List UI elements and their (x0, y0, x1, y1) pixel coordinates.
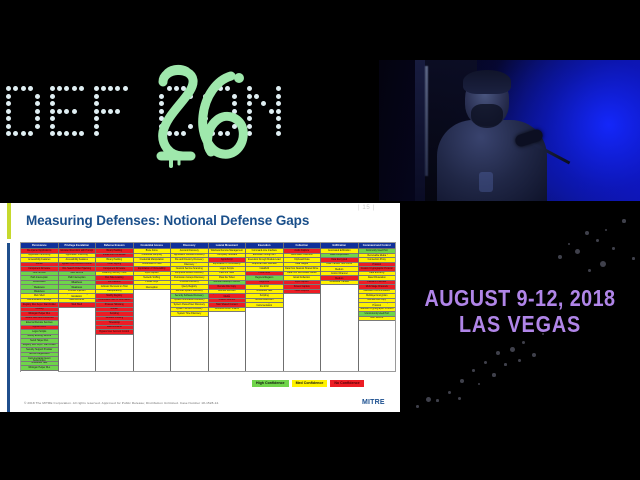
confidence-legend: High ConfidenceMed ConfidenceNo Confiden… (252, 380, 364, 387)
slide-copyright-footer: © 2018 The MITRE Corporation. All rights… (24, 401, 219, 405)
slide-accent-bar (7, 203, 11, 239)
background-speck (510, 347, 515, 352)
matrix-column: PersistenceRe-opened ApplicationsApplica… (21, 243, 59, 371)
background-speck (504, 363, 507, 366)
slide-title: Measuring Defenses: Notional Defense Gap… (26, 213, 346, 231)
speaker-hair (463, 70, 511, 94)
speaker-beard (471, 104, 503, 128)
event-info-text: AUGUST 9-12, 2018 LAS VEGAS (400, 286, 640, 338)
bottom-letterbox-bar (0, 412, 400, 480)
matrix-cell-empty (96, 335, 133, 372)
matrix-column: ExfiltrationAutomated ExfiltrationData C… (321, 243, 359, 371)
background-speck (496, 351, 500, 355)
attack-matrix: PersistenceRe-opened ApplicationsApplica… (20, 242, 396, 372)
background-speck (600, 261, 606, 267)
background-speck (575, 249, 580, 254)
background-speck (558, 255, 562, 259)
background-speck (522, 341, 525, 344)
background-speck (436, 399, 439, 402)
event-dates: AUGUST 9-12, 2018 (417, 286, 623, 311)
background-speck (472, 369, 475, 372)
slide-side-rail (7, 243, 10, 412)
speaker-video-feed (379, 60, 640, 201)
background-speck (484, 361, 487, 364)
legend-item-red: No Confidence (330, 380, 363, 387)
legend-item-yellow: Med Confidence (292, 380, 328, 387)
matrix-cell-empty (171, 317, 208, 372)
background-speck (605, 229, 607, 231)
event-city: LAS VEGAS (417, 311, 623, 338)
event-info-panel: AUGUST 9-12, 2018 LAS VEGAS (400, 201, 640, 480)
matrix-column: Credential AccessBrute ForceCredential D… (134, 243, 172, 371)
matrix-cell-empty (134, 290, 171, 372)
matrix-column: CollectionAudio CaptureAutomated Collect… (284, 243, 322, 371)
matrix-column: Defense EvasionBinary PaddingInstall Roo… (96, 243, 134, 371)
stage-pillar (415, 60, 425, 201)
background-speck (416, 405, 419, 408)
background-speck (585, 231, 589, 235)
matrix-column: Privilege EscalationElevated Execution w… (59, 243, 97, 371)
matrix-cell-empty (21, 371, 58, 372)
slide-page-number: | 15 | (358, 205, 375, 211)
matrix-cell-empty (246, 308, 283, 372)
background-speck (478, 383, 480, 385)
speaker-badge (479, 172, 493, 192)
background-speck (612, 247, 615, 250)
legend-item-green: High Confidence (252, 380, 289, 387)
matrix-cell-empty (284, 294, 321, 371)
background-speck (532, 353, 536, 357)
matrix-cell-empty (359, 321, 396, 371)
top-letterbox-bar (0, 0, 640, 56)
background-speck (492, 373, 496, 377)
background-speck (448, 391, 451, 394)
background-speck (426, 397, 431, 402)
background-speck (568, 243, 570, 245)
background-speck (596, 239, 599, 242)
background-speck (458, 397, 461, 400)
matrix-column: Lateral MovementWindows Remote Managemen… (209, 243, 247, 371)
matrix-column: ExecutionCommand-Line InterfaceExecution… (246, 243, 284, 371)
defcon-logo-panel (0, 56, 379, 201)
matrix-column: Command and ControlCommonly Used PortCom… (359, 243, 396, 371)
defcon-26-graffiti-icon (147, 60, 252, 170)
background-speck (622, 219, 626, 223)
background-speck (588, 269, 591, 272)
background-speck (460, 379, 464, 383)
defcon-recording-composite: Measuring Defenses: Notional Defense Gap… (0, 0, 640, 480)
matrix-cell-empty (59, 308, 96, 372)
mitre-logo: MITRE (362, 399, 385, 406)
stage-light-strip (425, 66, 428, 176)
background-speck (632, 257, 635, 260)
background-speck (518, 359, 521, 362)
matrix-cell-empty (209, 312, 246, 371)
matrix-column: DiscoveryAccount DiscoveryApplication Wi… (171, 243, 209, 371)
matrix-cell-empty (321, 285, 358, 371)
